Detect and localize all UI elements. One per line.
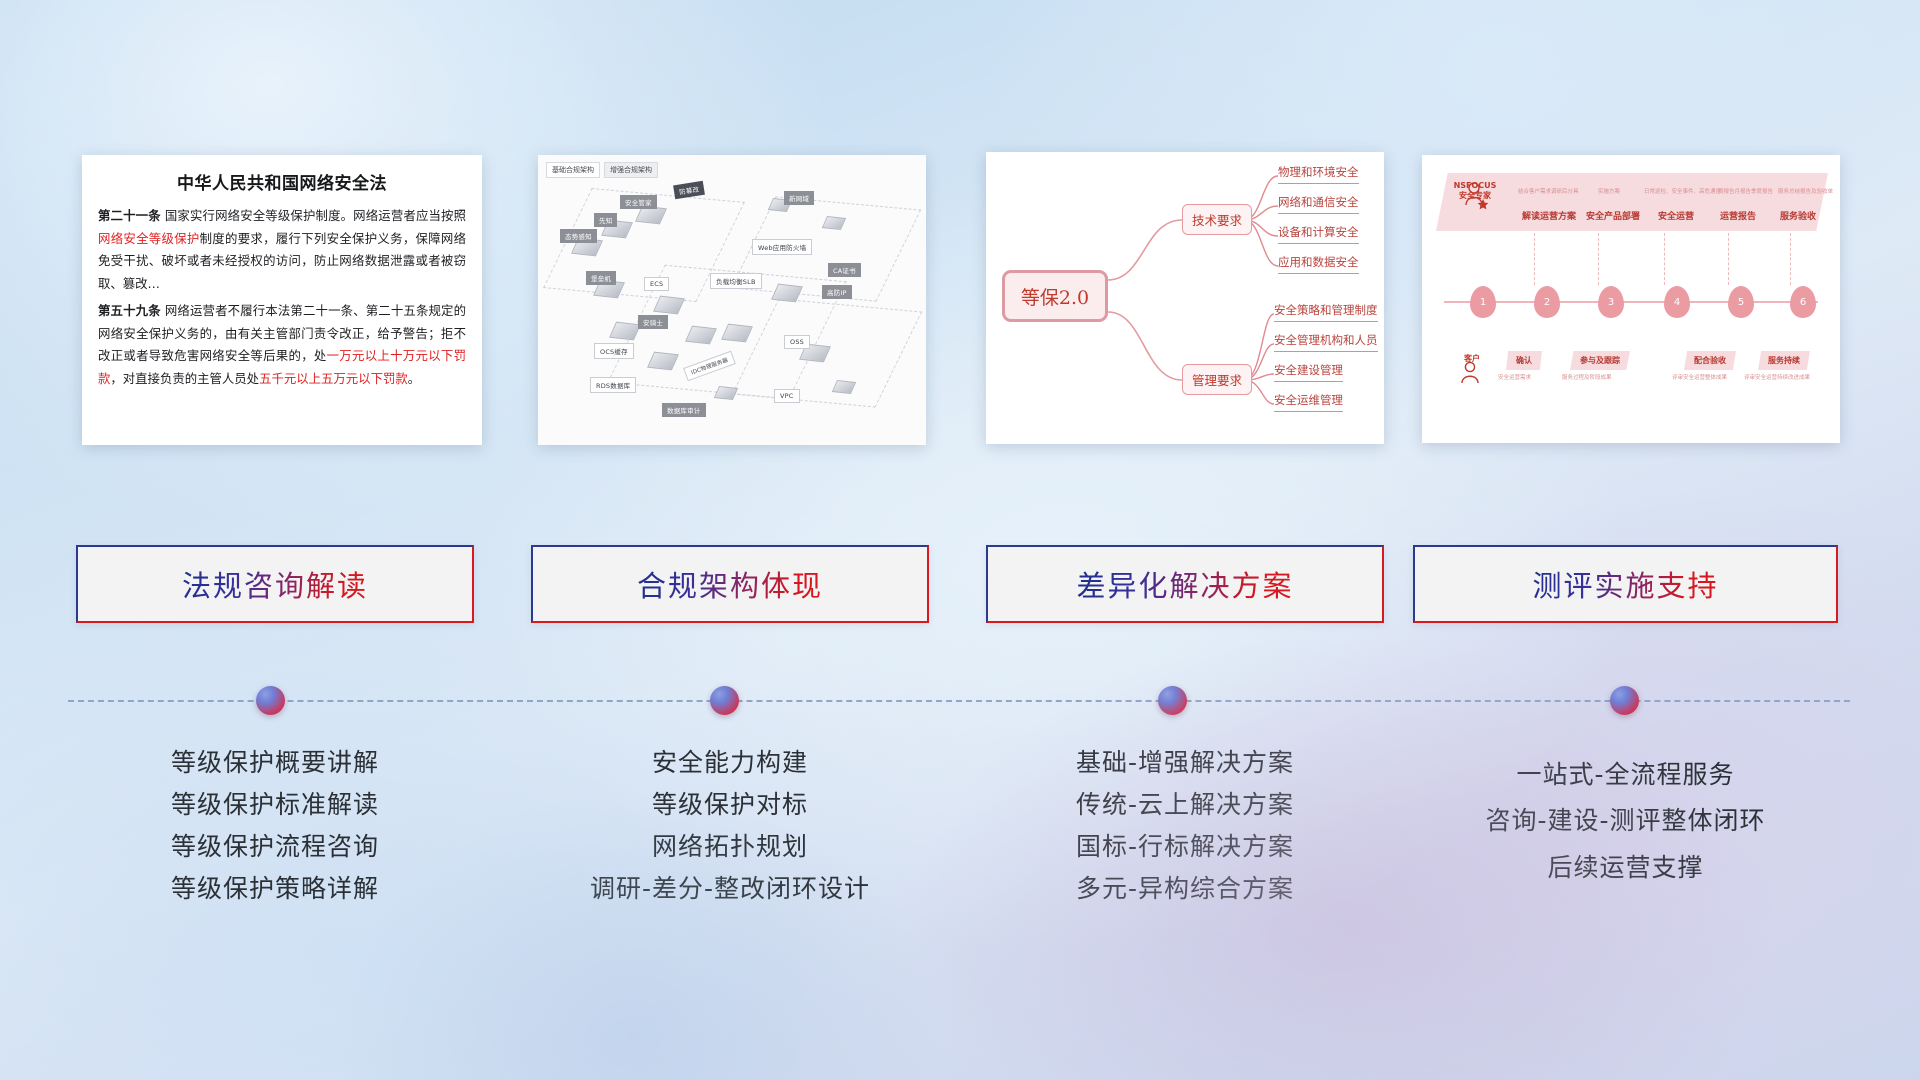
list-item: 等级保护对标 [531,784,929,826]
arch-node-16: 数据库审计 [662,403,706,417]
image-cards-row: 中华人民共和国网络安全法 第二十一条 国家实行网络安全等级保护制度。网络运营者应… [0,0,1920,1080]
timeline-tag-2: 配合验收 [1684,351,1736,370]
timeline-dot-3: 3 [1598,286,1624,318]
section-label-2: 合规架构体现 [637,563,823,605]
mindmap-root-node: 等保2.0 [1002,270,1108,322]
timeline-expert-label: NSFOCUS 安全专家 [1446,181,1504,202]
mindmap-leaf-mgmt-2: 安全建设管理 [1274,362,1343,382]
timeline-dot-2: 2 [1534,286,1560,318]
architecture-canvas: 基础合规架构 增强合规架构 [538,155,926,445]
timeline-stem-2 [1664,233,1665,285]
list-item: 多元-异构综合方案 [986,868,1384,910]
law-article-21: 第二十一条 国家实行网络安全等级保护制度。网络运营者应当按照网络安全等级保护制度… [98,205,466,295]
mindmap-branch-management: 管理要求 [1182,364,1252,395]
section-items-3: 基础-增强解决方案 传统-云上解决方案 国标-行标解决方案 多元-异构综合方案 [986,742,1384,910]
arch-node-3: 态势感知 [560,229,597,243]
card-compliance-architecture: 基础合规架构 增强合规架构 [538,155,926,445]
mindmap-leaf-tech-0: 物理和环境安全 [1278,164,1359,184]
mindmap-leaf-tech-2: 设备和计算安全 [1278,224,1359,244]
list-item: 等级保护流程咨询 [76,826,474,868]
section-items-1: 等级保护概要讲解 等级保护标准解读 等级保护流程咨询 等级保护策略详解 [76,742,474,910]
timeline-tag-sub-0: 安全运营需求 [1498,373,1531,381]
arch-node-13: RDS数据库 [590,377,636,393]
arch-node-0: 防篡改 [673,181,705,200]
timeline-step-sub-1: 实施方案 [1598,187,1620,195]
timeline-tag-0: 确认 [1506,351,1542,370]
law-article-59-highlight-b: 五千元以上五万元以下罚款 [259,371,408,386]
arch-node-5: 新网域 [784,191,814,205]
law-article-21-label: 第二十一条 [98,208,161,223]
timeline-stem-0 [1534,233,1535,285]
timeline-step-title-0: 解读运营方案 [1522,209,1576,222]
mindmap-leaf-mgmt-3: 安全运维管理 [1274,392,1343,412]
timeline-canvas: NSFOCUS 安全专家 结合客户需求调研后分具 解读运营方案 实施方案 安全产… [1422,155,1840,443]
mindmap-leaf-mgmt-1: 安全管理机构和人员 [1274,332,1378,352]
axis-dot-1 [256,686,285,715]
arch-node-11: 安骑士 [638,315,668,329]
list-item: 调研-差分-整改闭环设计 [531,868,929,910]
list-item: 一站式-全流程服务 [1413,752,1838,798]
arch-node-2: 先知 [594,213,617,227]
timeline-dot-5: 5 [1728,286,1754,318]
timeline-stem-1 [1598,233,1599,285]
arch-node-4: 堡垒机 [586,271,616,285]
card-mindmap-dengbao: 等保2.0 技术要求 管理要求 物理和环境安全 网络和通信安全 设备和计算安全 … [986,152,1384,444]
arch-tab-basic[interactable]: 基础合规架构 [546,162,600,178]
expert-brand: NSFOCUS [1446,181,1504,191]
timeline-step-title-2: 安全运营 [1658,209,1694,222]
arch-node-12: OCS缓存 [594,343,634,359]
list-item: 等级保护概要讲解 [76,742,474,784]
law-title: 中华人民共和国网络安全法 [98,169,466,194]
timeline-axis [1444,301,1818,303]
list-item: 后续运营支撑 [1413,845,1838,891]
timeline-tag-sub-3: 评审安全运营持续改进成果 [1744,373,1810,381]
mindmap-branch-technical: 技术要求 [1182,204,1252,235]
arch-node-10: 负载均衡SLB [710,273,762,289]
card-law-excerpt: 中华人民共和国网络安全法 第二十一条 国家实行网络安全等级保护制度。网络运营者应… [82,155,482,445]
timeline-tag-3: 服务持续 [1758,351,1810,370]
mindmap-leaf-mgmt-0: 安全策略和管理制度 [1274,302,1378,322]
arch-node-7: CA证书 [828,263,861,277]
mindmap-leaf-tech-1: 网络和通信安全 [1278,194,1359,214]
list-item: 基础-增强解决方案 [986,742,1384,784]
section-label-3: 差异化解决方案 [1076,563,1293,605]
arch-cube-14 [714,386,738,400]
mindmap-canvas: 等保2.0 技术要求 管理要求 物理和环境安全 网络和通信安全 设备和计算安全 … [986,152,1384,444]
timeline-step-title-4: 服务验收 [1780,209,1816,222]
arch-node-14: OSS [784,335,810,349]
list-item: 国标-行标解决方案 [986,826,1384,868]
axis-dot-3 [1158,686,1187,715]
list-item: 安全能力构建 [531,742,929,784]
law-article-21-highlight: 网络安全等级保护 [98,231,200,246]
law-article-59-text-b: ，对直接负责的主管人员处 [110,371,259,386]
section-label-box-4[interactable]: 测评实施支持 [1413,545,1838,623]
list-item: 网络拓扑规划 [531,826,929,868]
timeline-step-title-3: 运营报告 [1720,209,1756,222]
axis-dot-4 [1610,686,1639,715]
timeline-user-label: 客户 [1448,353,1496,364]
timeline-step-sub-4: 服务总结报告及验收单 [1778,187,1833,195]
timeline-stem-3 [1728,233,1729,285]
list-item: 等级保护策略详解 [76,868,474,910]
section-label-box-3[interactable]: 差异化解决方案 [986,545,1384,623]
timeline-tag-sub-1: 服务过程及阶段成果 [1562,373,1612,381]
law-article-59: 第五十九条 网络运营者不履行本法第二十一条、第二十五条规定的网络安全保护义务的，… [98,300,466,390]
law-article-59-text-c: 。 [408,371,420,386]
expert-role: 安全专家 [1446,191,1504,201]
timeline-dot-4: 4 [1664,286,1690,318]
arch-node-6: Web应用防火墙 [752,239,812,255]
list-item: 咨询-建设-测评整体闭环 [1413,798,1838,844]
list-item: 传统-云上解决方案 [986,784,1384,826]
mindmap-leaf-tech-3: 应用和数据安全 [1278,254,1359,274]
arch-node-15: VPC [774,389,800,403]
timeline-dot-1: 1 [1470,286,1496,318]
law-article-21-text-a: 国家实行网络安全等级保护制度。网络运营者应当按照 [161,208,466,223]
section-label-box-1[interactable]: 法规咨询解读 [76,545,474,623]
section-items-2: 安全能力构建 等级保护对标 网络拓扑规划 调研-差分-整改闭环设计 [531,742,929,910]
timeline-step-sub-3: 周报告月报告季度报告 [1718,187,1773,195]
arch-node-9: ECS [644,277,669,291]
timeline-dot-6: 6 [1790,286,1816,318]
timeline-step-title-1: 安全产品部署 [1586,209,1640,222]
timeline-step-sub-0: 结合客户需求调研后分具 [1518,187,1579,195]
timeline-tag-1: 参与及跟踪 [1570,351,1630,370]
section-label-box-2[interactable]: 合规架构体现 [531,545,929,623]
list-item: 等级保护标准解读 [76,784,474,826]
timeline-dashed-axis [68,700,1850,702]
arch-node-8: 高防IP [822,285,852,299]
section-label-4: 测评实施支持 [1532,563,1718,605]
card-service-timeline: NSFOCUS 安全专家 结合客户需求调研后分具 解读运营方案 实施方案 安全产… [1422,155,1840,443]
law-article-59-label: 第五十九条 [98,303,161,318]
timeline-tag-sub-2: 评审安全运营整体成果 [1672,373,1727,381]
arch-node-1: 安全管家 [620,195,657,209]
section-items-4: 一站式-全流程服务 咨询-建设-测评整体闭环 后续运营支撑 [1413,752,1838,891]
arch-tab-enhanced[interactable]: 增强合规架构 [604,162,658,178]
timeline-stem-4 [1790,233,1791,285]
axis-dot-2 [710,686,739,715]
section-label-1: 法规咨询解读 [182,563,368,605]
timeline-step-sub-2: 日常巡检、安全事件、高危通告 [1644,187,1721,195]
slide-canvas: 中华人民共和国网络安全法 第二十一条 国家实行网络安全等级保护制度。网络运营者应… [0,0,1920,1080]
